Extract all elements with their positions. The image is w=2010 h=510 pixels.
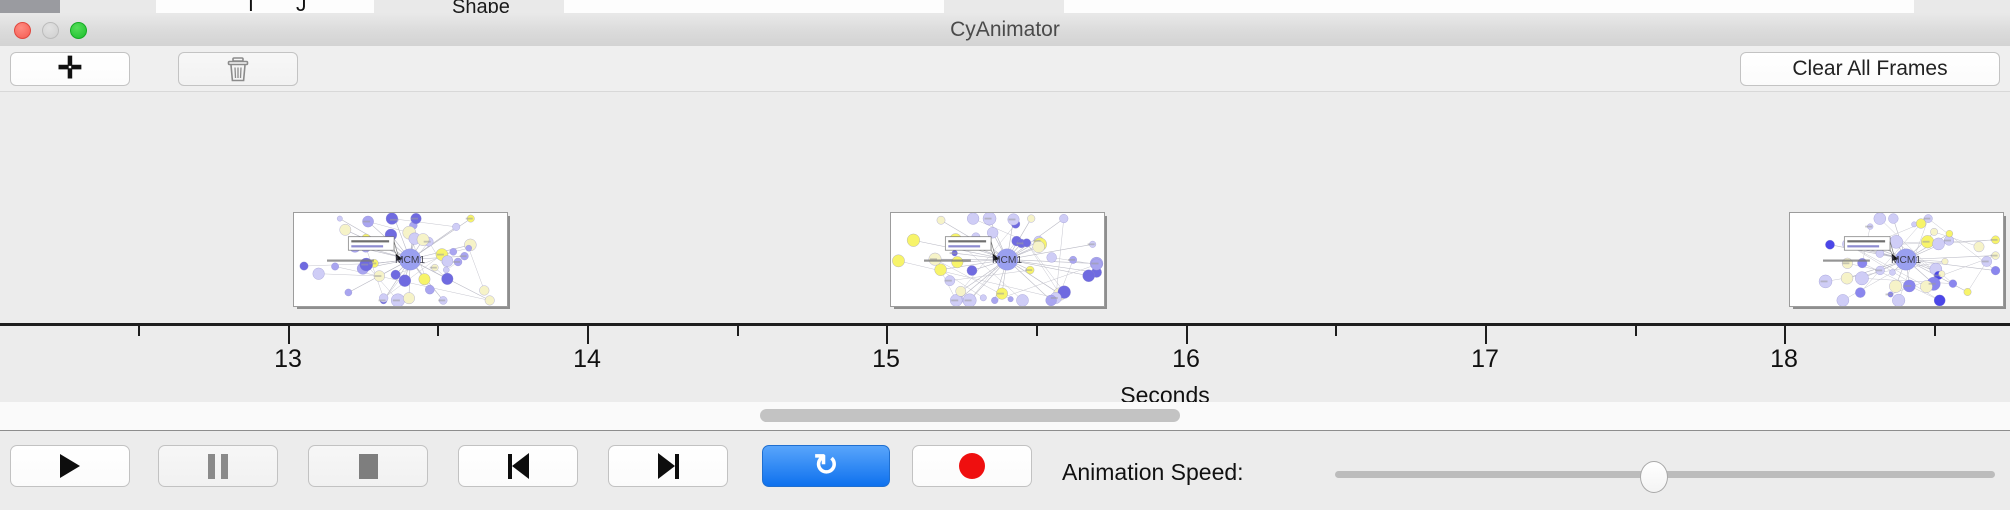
add-frame-button[interactable]: ✛ — [10, 52, 130, 86]
playback-controls: ↻ Animation Speed: — [0, 431, 2010, 510]
frame-toolbar: ✛ Clear All Frames — [0, 46, 2010, 92]
animation-speed-knob[interactable] — [1640, 461, 1668, 493]
axis-tick-major — [288, 326, 290, 344]
cyanimator-window: I J Shape CyAnimator ✛ — [0, 0, 2010, 510]
background-window-strip: I J Shape — [0, 0, 2010, 13]
svg-text:MCM1: MCM1 — [395, 255, 425, 266]
frame-network-image: MCM1 — [890, 212, 1105, 307]
svg-text:MCM1: MCM1 — [992, 255, 1022, 266]
pause-button[interactable] — [158, 445, 278, 487]
timeline-frame-thumbnail[interactable]: MCM1 — [1789, 212, 2002, 305]
axis-tick-label: 14 — [573, 345, 601, 374]
timeline-frame-thumbnail[interactable]: MCM1 — [890, 212, 1103, 305]
pause-icon — [208, 454, 228, 479]
play-icon — [60, 454, 80, 478]
axis-tick-major — [886, 326, 888, 344]
timeline-scrollbar[interactable] — [0, 402, 2010, 431]
timeline-frame-thumbnail[interactable]: MCM1 — [293, 212, 506, 305]
animation-speed-label: Animation Speed: — [1062, 459, 1244, 486]
frame-network-image: MCM1 — [1789, 212, 2004, 307]
axis-tick-minor — [737, 326, 739, 336]
play-button[interactable] — [10, 445, 130, 487]
scrollbar-thumb[interactable] — [760, 409, 1180, 422]
axis-tick-minor — [138, 326, 140, 336]
axis-tick-major — [587, 326, 589, 344]
loop-button[interactable]: ↻ — [762, 445, 890, 487]
axis-tick-minor — [1635, 326, 1637, 336]
background-window-label: Shape — [452, 0, 510, 13]
bg-glyph-1: I — [248, 0, 254, 13]
axis-tick-label: 16 — [1172, 345, 1200, 374]
axis-tick-minor — [1036, 326, 1038, 336]
loop-icon: ↻ — [813, 451, 838, 481]
stop-icon — [359, 454, 378, 479]
axis-tick-major — [1186, 326, 1188, 344]
skip-to-start-icon — [508, 453, 529, 479]
record-icon — [959, 453, 985, 479]
time-axis: 2131415161718 Seconds — [0, 307, 2010, 402]
first-frame-button[interactable] — [458, 445, 578, 487]
window-title: CyAnimator — [0, 13, 2010, 46]
title-bar: CyAnimator — [0, 13, 2010, 47]
axis-tick-major — [1784, 326, 1786, 344]
delete-frame-button[interactable] — [178, 52, 298, 86]
svg-text:MCM1: MCM1 — [1891, 255, 1921, 266]
axis-tick-label: 17 — [1471, 345, 1499, 374]
axis-tick-label: 13 — [274, 345, 302, 374]
axis-tick-label: 15 — [872, 345, 900, 374]
timeline-panel[interactable]: MCM1MCM1MCM1 2131415161718 Seconds — [0, 91, 2010, 403]
frame-network-image: MCM1 — [293, 212, 508, 307]
skip-to-end-icon — [658, 453, 679, 479]
axis-tick-minor — [437, 326, 439, 336]
timeline-top-divider — [0, 91, 2010, 92]
record-button[interactable] — [912, 445, 1032, 487]
last-frame-button[interactable] — [608, 445, 728, 487]
clear-all-frames-button[interactable]: Clear All Frames — [1740, 52, 2000, 86]
stop-button[interactable] — [308, 445, 428, 487]
axis-tick-major — [1485, 326, 1487, 344]
axis-tick-minor — [1335, 326, 1337, 336]
trash-icon — [227, 57, 249, 81]
axis-title: Seconds — [1120, 382, 1210, 403]
plus-icon: ✛ — [57, 54, 82, 84]
axis-line — [0, 323, 2010, 326]
axis-tick-minor — [1934, 326, 1936, 336]
bg-glyph-2: J — [296, 0, 307, 13]
axis-tick-label: 18 — [1770, 345, 1798, 374]
